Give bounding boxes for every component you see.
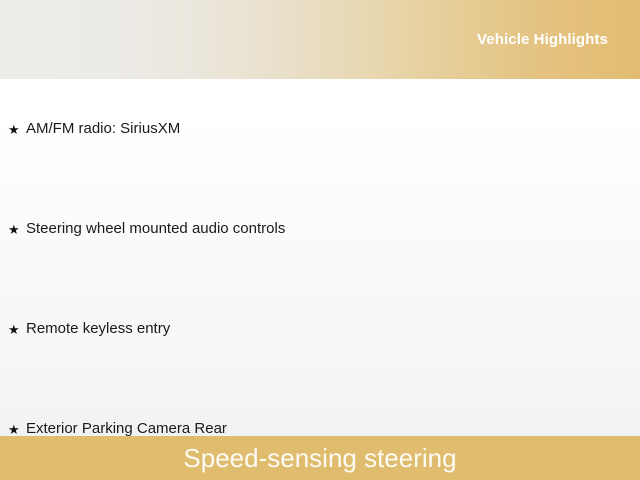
- page-header: Vehicle Highlights: [0, 0, 640, 79]
- list-item-label: Steering wheel mounted audio controls: [26, 220, 285, 238]
- list-item[interactable]: ★ AM/FM radio: SiriusXM: [0, 79, 640, 179]
- bottom-banner: Speed-sensing steering: [0, 436, 640, 480]
- list-item-label: AM/FM radio: SiriusXM: [26, 120, 180, 138]
- star-icon: ★: [8, 223, 26, 236]
- star-icon: ★: [8, 423, 26, 436]
- page-title: Vehicle Highlights: [477, 31, 608, 48]
- star-icon: ★: [8, 123, 26, 136]
- star-icon: ★: [8, 323, 26, 336]
- list-item[interactable]: ★ Remote keyless entry: [0, 279, 640, 379]
- list-item[interactable]: ★ Steering wheel mounted audio controls: [0, 179, 640, 279]
- list-item-label: Remote keyless entry: [26, 320, 170, 338]
- vehicle-highlights-list: ★ AM/FM radio: SiriusXM ★ Steering wheel…: [0, 79, 640, 479]
- bottom-banner-label: Speed-sensing steering: [183, 445, 456, 471]
- vehicle-highlights-page: Vehicle Highlights ★ AM/FM radio: Sirius…: [0, 0, 640, 480]
